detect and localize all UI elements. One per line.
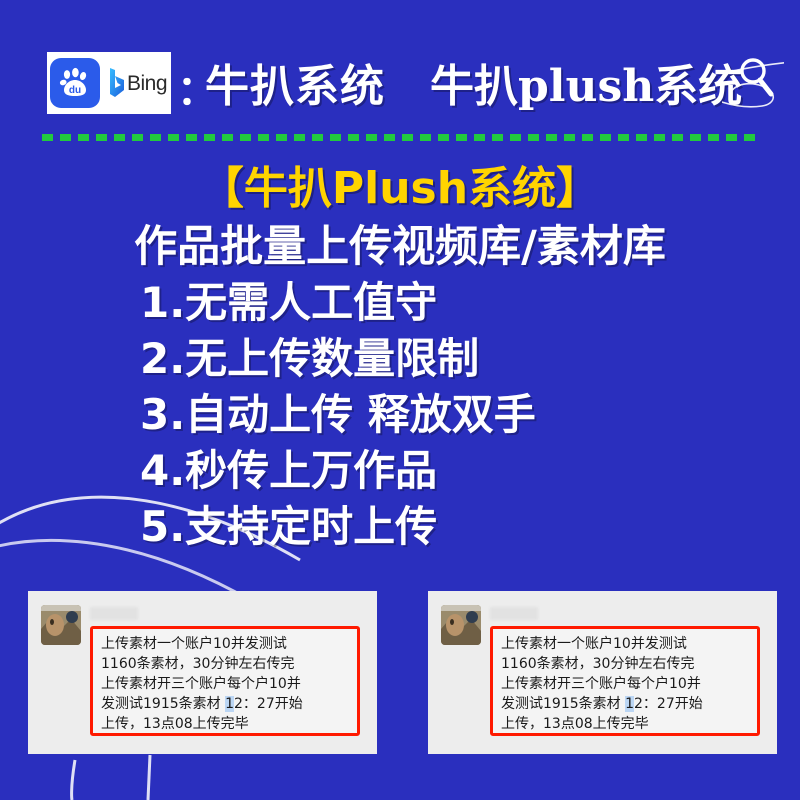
bing-logo-icon[interactable]: Bing [108,66,167,100]
page-title: 【牛扒Plush系统】 [0,152,800,216]
chat-message-line: 发测试1915条素材 12：27开始 [501,694,751,714]
chat-bubble: 上传素材一个账户10并发测试 1160条素材，30分钟左右传完 上传素材开三个账… [90,626,360,736]
feature-list: 1.无需人工值守 2.无上传数量限制 3.自动上传 释放双手 4.秒传上万作品 … [140,275,740,555]
chat-message-line: 上传素材开三个账户每个户10并 [101,674,351,694]
chat-message-line: 上传，13点08上传完毕 [501,714,751,734]
feature-item: 2.无上传数量限制 [140,331,740,387]
feature-item: 4.秒传上万作品 [140,443,740,499]
chat-message-line: 1160条素材，30分钟左右传完 [101,654,351,674]
chat-nickname [90,607,138,620]
header: du Bing ： 牛扒系统 牛扒plush系统 [0,46,800,128]
selected-text: 1 [625,696,634,712]
bing-b-icon [108,66,126,100]
baidu-paw-icon: du [57,65,93,101]
avatar [441,605,481,645]
avatar-photo-icon [441,605,481,645]
search-engine-logos: du Bing [47,52,171,114]
chat-message-line: 1160条素材，30分钟左右传完 [501,654,751,674]
avatar [41,605,81,645]
dashed-separator [42,134,758,141]
feature-item: 5.支持定时上传 [140,499,740,555]
poster-root: du Bing ： 牛扒系统 牛扒plush系统 [0,0,800,800]
chat-message-line: 发测试1915条素材 12：27开始 [101,694,351,714]
page-subtitle: 作品批量上传视频库/素材库 [0,212,800,274]
chat-message-line: 上传素材一个账户10并发测试 [501,634,751,654]
chat-message-line: 上传素材开三个账户每个户10并 [501,674,751,694]
bing-label: Bing [127,73,167,94]
chat-nickname [490,607,538,620]
avatar-photo-icon [41,605,81,645]
chat-card: 上传素材一个账户10并发测试 1160条素材，30分钟左右传完 上传素材开三个账… [428,591,777,754]
chat-message-line: 上传，13点08上传完毕 [101,714,351,734]
chat-card: 上传素材一个账户10并发测试 1160条素材，30分钟左右传完 上传素材开三个账… [28,591,377,754]
magnifier-icon[interactable] [722,50,784,112]
feature-item: 3.自动上传 释放双手 [140,387,740,443]
baidu-logo-icon[interactable]: du [50,58,100,108]
feature-item: 1.无需人工值守 [140,275,740,331]
chat-bubble: 上传素材一个账户10并发测试 1160条素材，30分钟左右传完 上传素材开三个账… [490,626,760,736]
header-title-right: 牛扒plush系统 [430,50,742,114]
header-title-left: 牛扒系统 [205,50,385,114]
baidu-du-text: du [69,85,81,96]
selected-text: 1 [225,696,234,712]
chat-message-line: 上传素材一个账户10并发测试 [101,634,351,654]
